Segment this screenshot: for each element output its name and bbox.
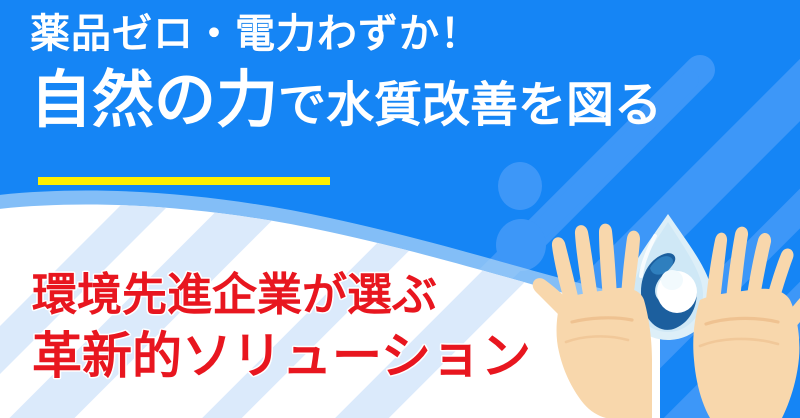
subcopy-line-1: 環境先進企業が選ぶ	[32, 272, 531, 317]
open-hand-right-icon	[693, 227, 800, 418]
headline-line-2: 自然の力 で水質改善を図る	[30, 70, 790, 132]
promo-banner: 薬品ゼロ・電力わずか！ 自然の力 で水質改善を図る 環境先進企業が選ぶ 革新的ソ…	[0, 0, 800, 418]
yellow-underline	[38, 177, 330, 185]
open-hand-left-icon	[533, 224, 652, 418]
headline-line-2-rest: で水質改善を図る	[278, 82, 662, 130]
headline-block: 薬品ゼロ・電力わずか！ 自然の力 で水質改善を図る	[30, 14, 790, 132]
subcopy-line-2: 革新的ソリューション	[32, 331, 531, 381]
subcopy-block: 環境先進企業が選ぶ 革新的ソリューション	[32, 272, 531, 381]
headline-emphasis: 自然の力	[30, 70, 278, 132]
headline-line-1: 薬品ゼロ・電力わずか！	[30, 14, 790, 54]
